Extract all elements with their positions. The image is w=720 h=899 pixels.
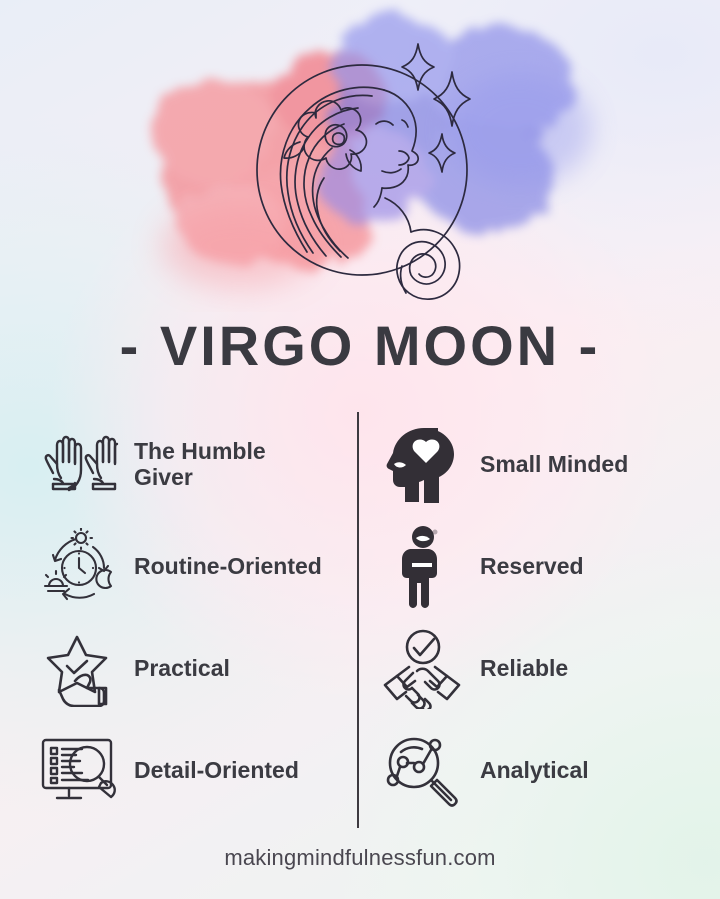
magnifier-nodes-icon <box>376 728 468 814</box>
trait-item-practical: Practical <box>38 618 358 720</box>
trait-label: Reliable <box>480 656 568 682</box>
day-night-clock-cycle-icon <box>38 524 124 610</box>
negative-traits-column: Small Minded Reserved <box>358 408 720 833</box>
trait-item-routine-oriented: Routine-Oriented <box>38 516 358 618</box>
traits-section: The Humble Giver <box>0 408 720 833</box>
trait-item-reliable: Reliable <box>376 618 720 720</box>
trait-item-small-minded: Small Minded <box>376 414 720 516</box>
trait-label: Reserved <box>480 554 584 580</box>
trait-label: Small Minded <box>480 452 628 478</box>
trait-label: Practical <box>134 656 230 682</box>
trait-label: Analytical <box>480 758 589 784</box>
trait-item-analytical: Analytical <box>376 720 720 822</box>
trait-label: Routine-Oriented <box>134 554 322 580</box>
star-check-hand-icon <box>38 626 124 712</box>
website-footer: makingmindfulnessfun.com <box>0 845 720 871</box>
watercolor-wash-blue <box>448 74 592 186</box>
open-hands-icon <box>38 422 124 508</box>
trait-label: The Humble Giver <box>134 439 324 491</box>
page-title: - VIRGO MOON - <box>0 318 720 374</box>
head-heart-icon <box>376 422 468 508</box>
trait-label: Detail-Oriented <box>134 758 299 784</box>
monitor-magnifier-icon <box>38 728 124 814</box>
column-divider <box>357 412 359 828</box>
zodiac-artwork <box>0 0 720 312</box>
trait-item-reserved: Reserved <box>376 516 720 618</box>
trait-item-humble-giver: The Humble Giver <box>38 414 358 516</box>
virgo-moon-poster: - VIRGO MOON - <box>0 0 720 899</box>
handshake-check-icon <box>376 626 468 712</box>
person-head-down-icon <box>376 524 468 610</box>
positive-traits-column: The Humble Giver <box>0 408 358 833</box>
trait-item-detail-oriented: Detail-Oriented <box>38 720 358 822</box>
